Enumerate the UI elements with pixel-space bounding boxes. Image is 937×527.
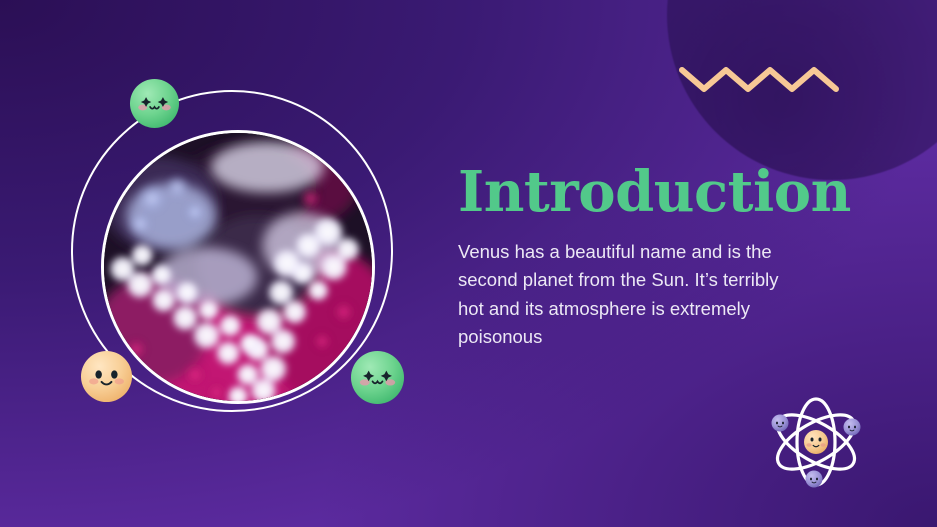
atom-icon [757, 392, 875, 492]
orbital-composition [0, 0, 470, 527]
zigzag-line-icon [679, 57, 859, 97]
planet-peach [80, 350, 133, 403]
slide-canvas: Introduction Venus has a beautiful name … [0, 0, 937, 527]
body-paragraph: Venus has a beautiful name and is the se… [458, 238, 788, 350]
text-content: Introduction Venus has a beautiful name … [458, 163, 858, 351]
bokeh-photo-circle [101, 130, 375, 404]
page-title: Introduction [458, 163, 858, 222]
planet-green-right [350, 350, 405, 405]
planet-green-top [129, 78, 180, 129]
